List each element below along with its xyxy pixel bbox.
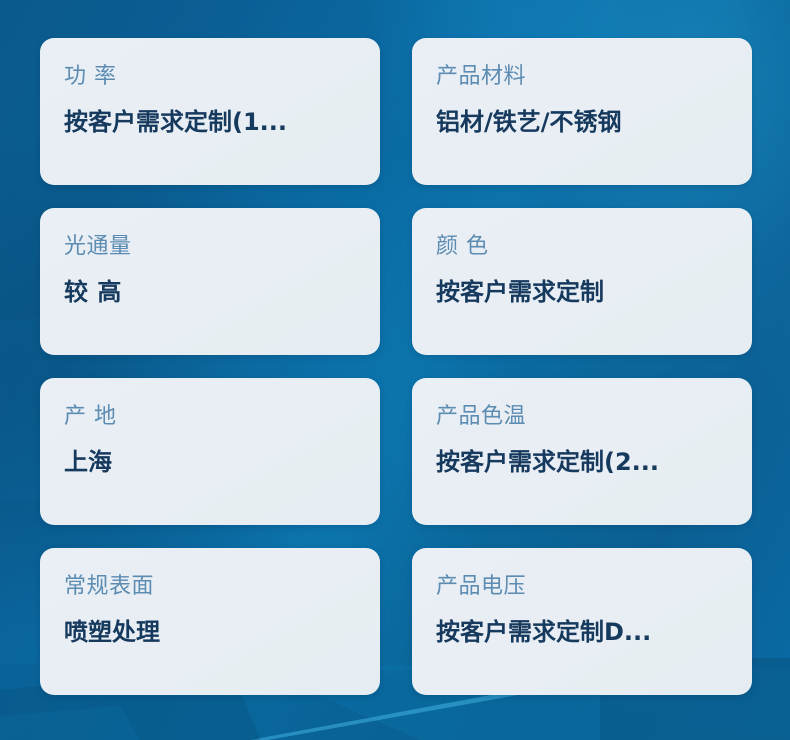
spec-card-color[interactable]: 颜 色 按客户需求定制 xyxy=(412,208,752,355)
spec-value: 按客户需求定制(1... xyxy=(64,108,356,137)
spec-label: 光通量 xyxy=(64,234,356,260)
spec-card-surface-finish[interactable]: 常规表面 喷塑处理 xyxy=(40,548,380,695)
spec-label: 颜 色 xyxy=(436,234,728,260)
spec-card-grid: 功 率 按客户需求定制(1... 产品材料 铝材/铁艺/不锈钢 光通量 较 高 … xyxy=(40,38,752,695)
spec-card-power[interactable]: 功 率 按客户需求定制(1... xyxy=(40,38,380,185)
spec-value: 按客户需求定制D... xyxy=(436,618,728,647)
spec-label: 功 率 xyxy=(64,64,356,90)
spec-value: 按客户需求定制(2... xyxy=(436,448,728,477)
spec-label: 产品电压 xyxy=(436,574,728,600)
spec-label: 产 地 xyxy=(64,404,356,430)
spec-label: 产品材料 xyxy=(436,64,728,90)
spec-card-color-temperature[interactable]: 产品色温 按客户需求定制(2... xyxy=(412,378,752,525)
spec-value: 较 高 xyxy=(64,278,356,307)
spec-value: 上海 xyxy=(64,448,356,477)
spec-value: 按客户需求定制 xyxy=(436,278,728,307)
spec-value: 铝材/铁艺/不锈钢 xyxy=(436,108,728,137)
product-spec-panel: 功 率 按客户需求定制(1... 产品材料 铝材/铁艺/不锈钢 光通量 较 高 … xyxy=(0,0,790,740)
spec-label: 常规表面 xyxy=(64,574,356,600)
spec-label: 产品色温 xyxy=(436,404,728,430)
spec-card-voltage[interactable]: 产品电压 按客户需求定制D... xyxy=(412,548,752,695)
spec-card-material[interactable]: 产品材料 铝材/铁艺/不锈钢 xyxy=(412,38,752,185)
spec-card-origin[interactable]: 产 地 上海 xyxy=(40,378,380,525)
spec-card-luminous-flux[interactable]: 光通量 较 高 xyxy=(40,208,380,355)
spec-value: 喷塑处理 xyxy=(64,618,356,647)
